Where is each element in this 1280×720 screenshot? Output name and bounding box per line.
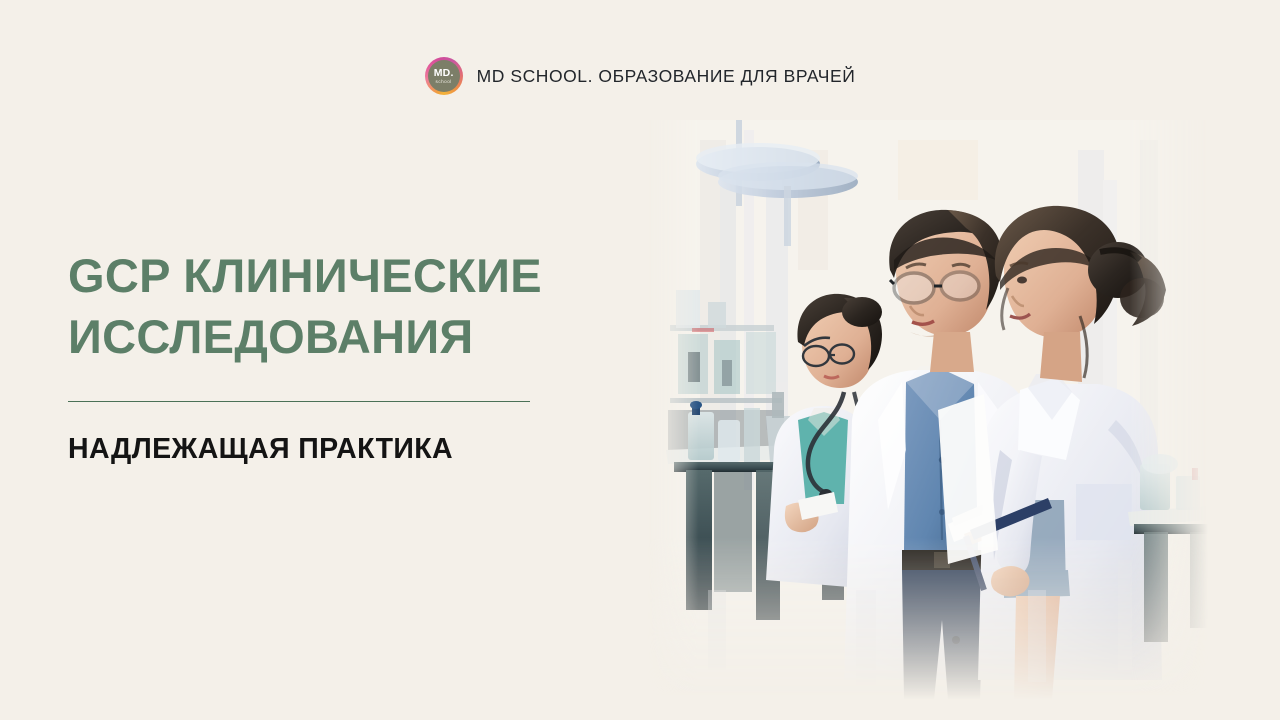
page-subtitle: НАДЛЕЖАЩАЯ ПРАКТИКА bbox=[68, 432, 628, 466]
logo-primary-text: MD. bbox=[434, 68, 454, 79]
page-title: GCP КЛИНИЧЕСКИЕ ИССЛЕДОВАНИЯ bbox=[68, 246, 543, 367]
brand-name-text: MD SCHOOL. ОБРАЗОВАНИЕ ДЛЯ ВРАЧЕЙ bbox=[477, 66, 856, 87]
medical-team-laboratory-illustration bbox=[648, 120, 1208, 700]
logo-secondary-text: school bbox=[436, 80, 452, 85]
course-title-slide: MD. school MD SCHOOL. ОБРАЗОВАНИЕ ДЛЯ ВР… bbox=[0, 0, 1280, 720]
md-school-logo-icon: MD. school bbox=[425, 57, 463, 95]
brand-header: MD. school MD SCHOOL. ОБРАЗОВАНИЕ ДЛЯ ВР… bbox=[0, 57, 1280, 95]
title-divider bbox=[68, 401, 530, 402]
title-block: GCP КЛИНИЧЕСКИЕ ИССЛЕДОВАНИЯ НАДЛЕЖАЩАЯ … bbox=[68, 246, 628, 466]
logo-inner-circle: MD. school bbox=[428, 60, 460, 92]
